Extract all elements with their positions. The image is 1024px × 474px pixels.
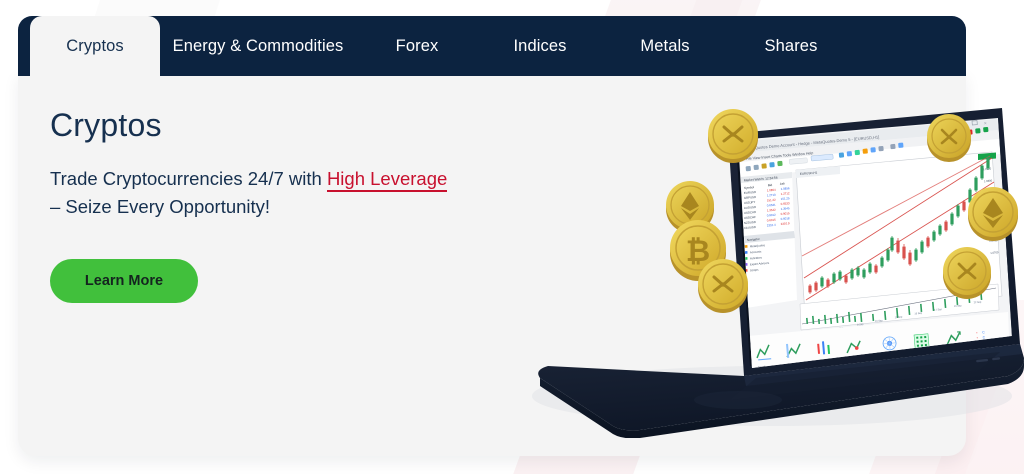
category-tab-bar: Cryptos Energy & Commodities Forex Indic…	[18, 16, 966, 76]
svg-text:Ask: Ask	[780, 181, 786, 185]
promo-description-tail: – Seize Every Opportunity!	[50, 196, 270, 217]
tab-metals[interactable]: Metals	[602, 16, 728, 76]
svg-text:0.6018: 0.6018	[781, 216, 791, 221]
svg-text:151.25: 151.25	[781, 196, 791, 201]
page-title: Cryptos	[50, 108, 520, 143]
tab-forex[interactable]: Forex	[356, 16, 478, 76]
tab-cryptos-label: Cryptos	[66, 37, 124, 56]
tab-metals-label: Metals	[640, 37, 689, 56]
svg-text:1.2712: 1.2712	[781, 191, 791, 196]
tab-indices-label: Indices	[514, 37, 567, 56]
high-leverage-link[interactable]: High Leverage	[327, 168, 447, 192]
tab-energy-commodities[interactable]: Energy & Commodities	[160, 16, 356, 76]
coin-litecoin-top-right	[922, 110, 976, 164]
promo-description-lead: Trade Cryptocurrencies 24/7 with	[50, 168, 327, 189]
svg-text:151.22: 151.22	[767, 198, 777, 203]
svg-text:2310.9: 2310.9	[781, 221, 791, 226]
learn-more-button[interactable]: Learn More	[50, 259, 198, 303]
coin-ethereum-right	[962, 182, 1024, 244]
svg-text:1.3542: 1.3542	[767, 208, 777, 213]
svg-text:0.6533: 0.6533	[781, 201, 791, 206]
tab-shares[interactable]: Shares	[728, 16, 854, 76]
coin-ripple-top	[702, 104, 764, 166]
promo-banner: Cryptos Energy & Commodities Forex Indic…	[0, 0, 1024, 474]
svg-text:0.9012: 0.9012	[767, 213, 777, 218]
svg-text:0.6015: 0.6015	[767, 218, 777, 223]
coin-ripple-lower-left	[692, 254, 754, 316]
promo-description: Trade Cryptocurrencies 24/7 with High Le…	[50, 165, 480, 221]
tab-energy-commodities-label: Energy & Commodities	[173, 37, 344, 56]
svg-text:1.0854: 1.0854	[767, 188, 777, 193]
svg-text:0.6531: 0.6531	[767, 203, 777, 208]
svg-text:2310.4: 2310.4	[767, 223, 777, 228]
tab-indices[interactable]: Indices	[478, 16, 602, 76]
svg-text:×: ×	[984, 121, 988, 127]
tab-cryptos[interactable]: Cryptos	[30, 16, 160, 76]
svg-text:0.9015: 0.9015	[781, 211, 791, 216]
svg-text:1.3545: 1.3545	[781, 206, 791, 211]
svg-text:1.2710: 1.2710	[767, 193, 777, 198]
coin-ripple-lower-right	[938, 243, 996, 301]
svg-text:Bid: Bid	[768, 183, 773, 187]
svg-text:1.0856: 1.0856	[781, 186, 791, 191]
tab-shares-label: Shares	[765, 37, 818, 56]
promo-copy-block: Cryptos Trade Cryptocurrencies 24/7 with…	[50, 108, 520, 303]
tab-forex-label: Forex	[396, 37, 439, 56]
